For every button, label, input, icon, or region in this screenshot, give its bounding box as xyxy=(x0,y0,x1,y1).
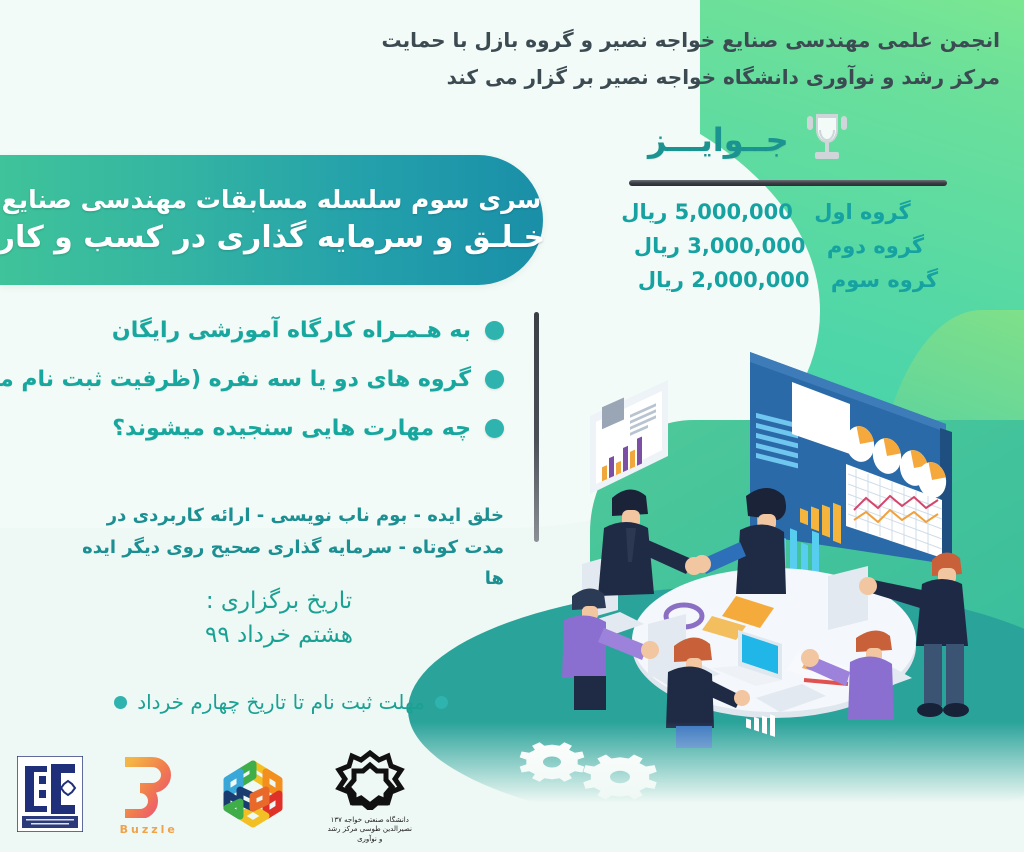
buzzle-logo xyxy=(118,756,180,822)
bullet-dot-icon xyxy=(485,321,504,340)
prize-row: گروه دوم 3,000,000 ریال xyxy=(588,234,988,258)
meeting-room-illustration xyxy=(560,328,1024,748)
iie-association-logo xyxy=(17,756,83,836)
trophy-icon xyxy=(805,112,849,168)
skills-line-2: مدت کوتاه - سرمایه گذاری صحیح روی دیگر ا… xyxy=(74,532,504,595)
poster-canvas: انجمن علمی مهندسی صنایع خواجه نصیر و گرو… xyxy=(0,0,1024,852)
vertical-divider xyxy=(534,312,539,542)
skills-line-1: خلق ایده - بوم ناب نویسی - ارائه کاربردی… xyxy=(74,500,504,532)
bullet-dot-icon xyxy=(435,696,448,709)
prize-label: گروه سوم xyxy=(831,268,938,292)
prizes-header: جــوایـــز xyxy=(588,112,988,168)
event-date-value: هشتم خرداد ۹۹ xyxy=(89,622,469,648)
sponsor-logos: Buzzle xyxy=(0,746,430,846)
title-line-1: سری سوم سلسله مسابقات مهندسی صنایع xyxy=(2,185,542,214)
title-line-2: خـلـق و سرمایه گذاری در کسب و کار xyxy=(0,220,545,255)
prizes-divider xyxy=(629,180,947,186)
prize-row: گروه سوم 2,000,000 ریال xyxy=(588,268,988,292)
bullet-dot-icon xyxy=(485,370,504,389)
logo-item: Buzzle xyxy=(118,756,180,836)
prize-amount: 5,000,000 ریال xyxy=(621,200,793,224)
buzzle-wordmark: Buzzle xyxy=(120,823,178,836)
prize-row: گروه اول 5,000,000 ریال xyxy=(588,200,988,224)
logo-item xyxy=(17,756,83,836)
feature-text: گروه های دو یا سه نفره (ظرفیت ثبت نام مح… xyxy=(0,367,471,392)
prize-amount: 3,000,000 ریال xyxy=(634,234,806,258)
prizes-panel: جــوایـــز xyxy=(588,112,988,302)
organizer-line-2: مرکز رشد و نوآوری دانشگاه خواجه نصیر بر … xyxy=(340,59,1000,96)
kntu-caption: ۱۳۷ دانشگاه صنعتی خواجه نصیرالدین طوسی م… xyxy=(327,816,413,843)
deadline-text: مهلت ثبت نام تا تاریخ چهارم خرداد xyxy=(137,690,425,714)
skills-paragraph: خلق ایده - بوم ناب نویسی - ارائه کاربردی… xyxy=(74,500,504,595)
prize-label: گروه دوم xyxy=(827,234,924,258)
bullet-dot-icon xyxy=(485,419,504,438)
person-suit-left xyxy=(598,489,703,596)
prize-amount: 2,000,000 ریال xyxy=(638,268,810,292)
organizer-header: انجمن علمی مهندسی صنایع خواجه نصیر و گرو… xyxy=(340,22,1000,96)
event-date-label: تاریخ برگزاری : xyxy=(89,588,469,614)
feature-text: به هـمـراه کارگاه آموزشی رایگان xyxy=(112,318,471,343)
feature-text: چه مهارت هایی سنجیده میشوند؟ xyxy=(112,416,471,441)
prizes-title: جــوایـــز xyxy=(648,121,789,159)
wall-poster-icon xyxy=(590,380,668,494)
prize-label: گروه اول xyxy=(814,200,911,224)
logo-item: ۱۳۷ دانشگاه صنعتی خواجه نصیرالدین طوسی م… xyxy=(327,748,413,843)
title-banner: سری سوم سلسله مسابقات مهندسی صنایع خـلـق… xyxy=(0,155,543,285)
logo-item xyxy=(214,756,292,836)
incubator-hex-logo xyxy=(214,756,292,836)
organizer-line-1: انجمن علمی مهندسی صنایع خواجه نصیر و گرو… xyxy=(340,22,1000,59)
kntu-university-logo xyxy=(333,748,407,814)
bullet-dot-icon xyxy=(114,696,127,709)
